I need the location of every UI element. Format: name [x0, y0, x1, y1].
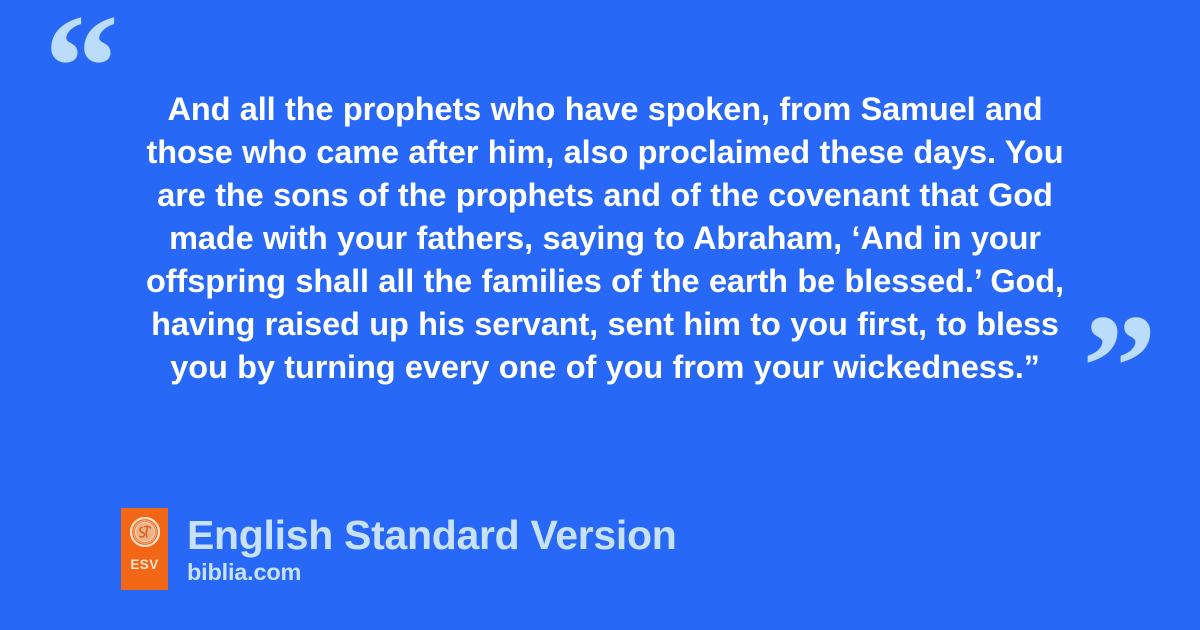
opening-quote-icon: “: [44, 0, 121, 142]
attribution-text: English Standard Version biblia.com: [187, 508, 676, 586]
quote-card: “ And all the prophets who have spoken, …: [0, 0, 1200, 630]
quote-block: And all the prophets who have spoken, fr…: [130, 88, 1080, 389]
circular-seal-icon: [130, 517, 160, 547]
attribution: ESV English Standard Version biblia.com: [121, 508, 676, 590]
closing-quote-icon: ”: [1082, 292, 1159, 442]
quote-text: And all the prophets who have spoken, fr…: [130, 88, 1080, 389]
esv-logo-badge: ESV: [121, 508, 168, 590]
esv-abbreviation-label: ESV: [130, 558, 158, 572]
site-name: biblia.com: [187, 558, 676, 586]
bible-version-name: English Standard Version: [187, 512, 676, 558]
